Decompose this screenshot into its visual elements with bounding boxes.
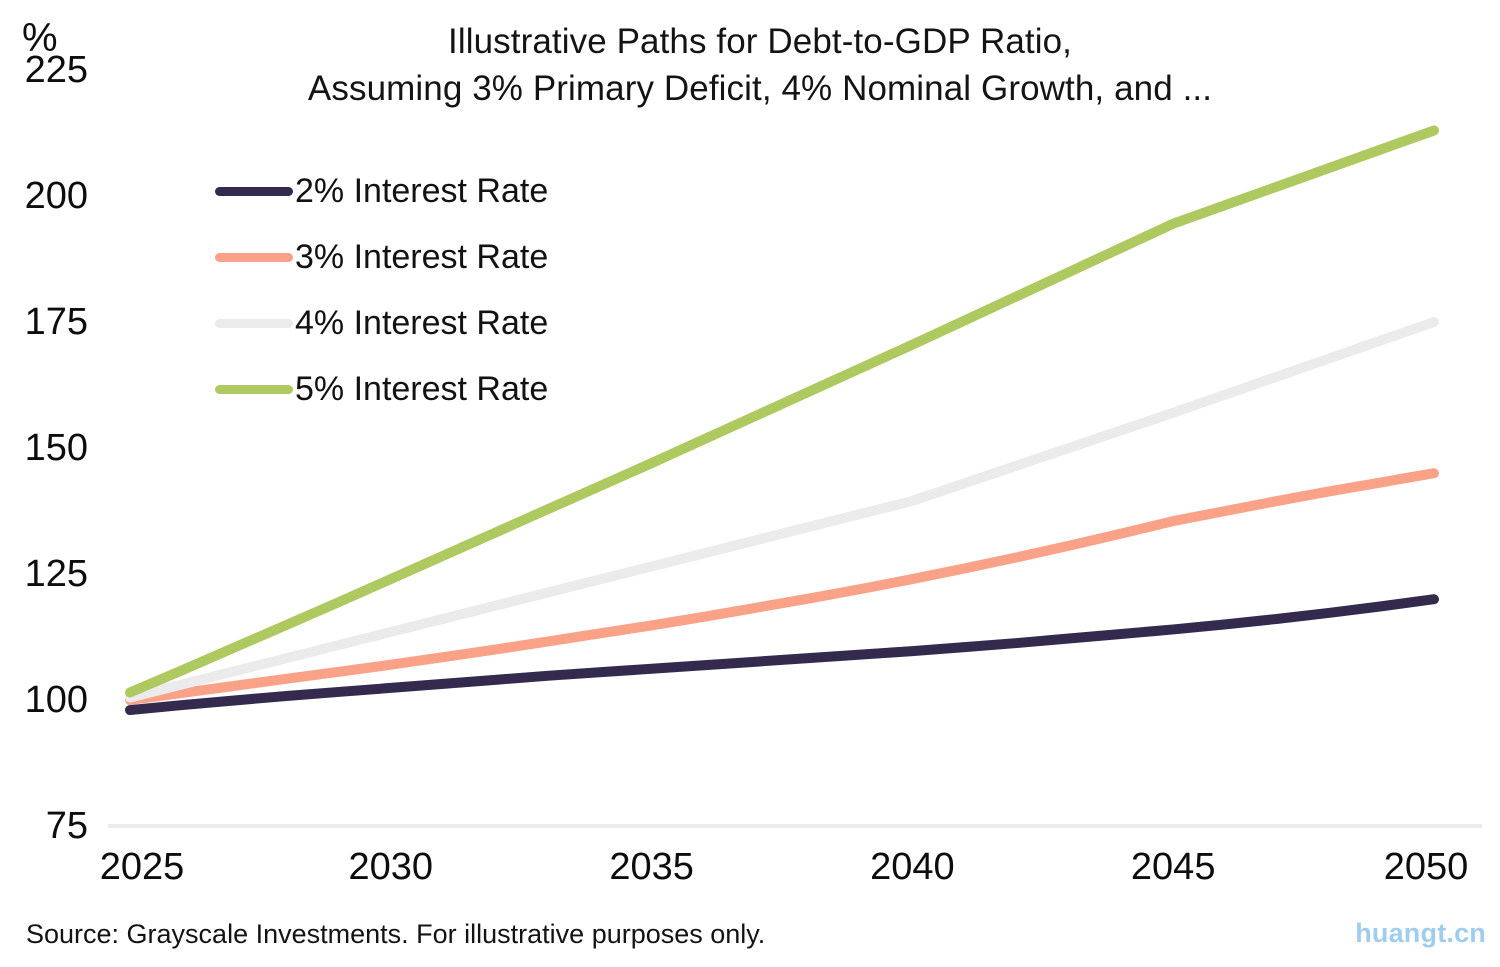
y-axis-tick-200: 200	[25, 177, 88, 215]
y-axis-tick-225: 225	[25, 51, 88, 89]
legend-item-label: 3% Interest Rate	[295, 239, 548, 275]
legend-item-2-interest-rate[interactable]: 2% Interest Rate	[215, 158, 635, 224]
legend-item-label: 2% Interest Rate	[295, 173, 548, 209]
series-line-3-interest-rate	[130, 473, 1434, 700]
x-axis-tick-labels: 202520302035204020452050	[0, 845, 1500, 897]
legend-item-4-interest-rate[interactable]: 4% Interest Rate	[215, 290, 635, 356]
legend-swatch-icon	[215, 187, 293, 196]
x-axis-tick-2025: 2025	[100, 845, 185, 889]
y-axis-tick-150: 150	[25, 429, 88, 467]
source-note: Source: Grayscale Investments. For illus…	[26, 917, 765, 951]
chart-legend: 2% Interest Rate3% Interest Rate4% Inter…	[215, 158, 635, 422]
legend-item-label: 5% Interest Rate	[295, 371, 548, 407]
legend-swatch-icon	[215, 253, 293, 262]
legend-swatch-icon	[215, 385, 293, 394]
plot-area	[0, 0, 1500, 967]
x-axis-tick-2035: 2035	[609, 845, 694, 889]
y-axis-tick-75: 75	[46, 807, 88, 845]
y-axis-tick-125: 125	[25, 555, 88, 593]
y-axis-tick-labels: 75100125150175200225	[0, 0, 96, 967]
chart-container: % Illustrative Paths for Debt-to-GDP Rat…	[0, 0, 1500, 967]
watermark-label: huangt.cn	[1355, 916, 1486, 950]
legend-item-label: 4% Interest Rate	[295, 305, 548, 341]
x-axis-tick-2040: 2040	[870, 845, 955, 889]
legend-swatch-icon	[215, 319, 293, 328]
y-axis-tick-100: 100	[25, 681, 88, 719]
x-axis-tick-2030: 2030	[349, 845, 434, 889]
legend-item-3-interest-rate[interactable]: 3% Interest Rate	[215, 224, 635, 290]
x-axis-tick-2045: 2045	[1131, 845, 1216, 889]
y-axis-tick-175: 175	[25, 303, 88, 341]
legend-item-5-interest-rate[interactable]: 5% Interest Rate	[215, 356, 635, 422]
x-axis-tick-2050: 2050	[1384, 845, 1469, 889]
series-line-2-interest-rate	[130, 599, 1434, 710]
